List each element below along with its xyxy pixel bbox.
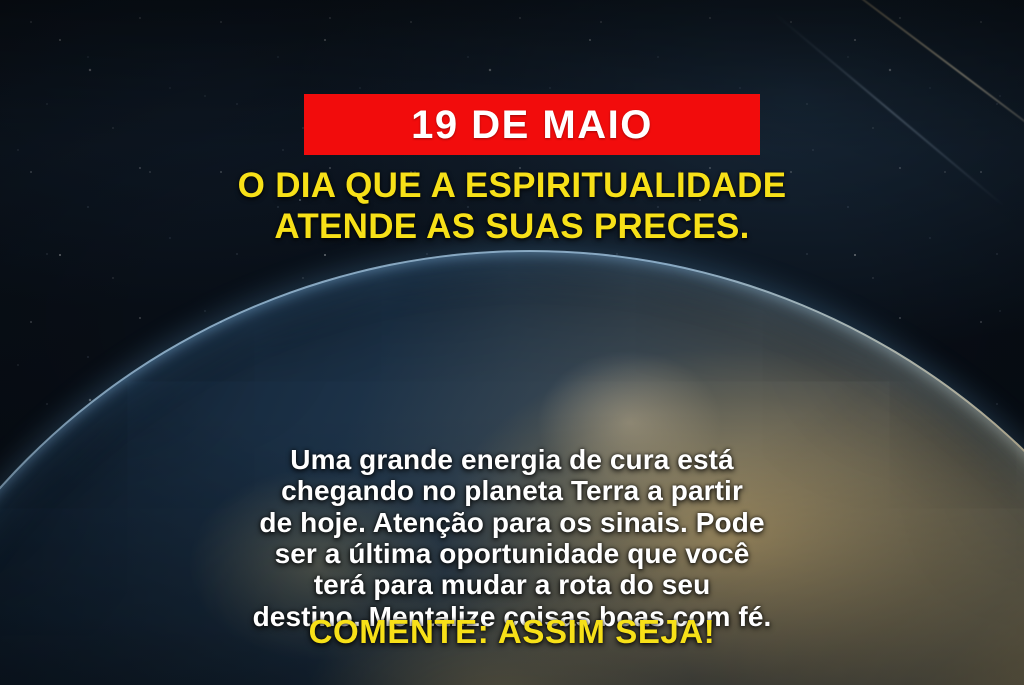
headline: O DIA QUE A ESPIRITUALIDADE ATENDE AS SU… — [0, 166, 1024, 247]
body-line-1: Uma grande energia de cura está — [54, 444, 970, 475]
body-line-2: chegando no planeta Terra a partir — [54, 475, 970, 506]
body-line-4: ser a última oportunidade que você — [54, 538, 970, 569]
body-line-3: de hoje. Atenção para os sinais. Pode — [54, 507, 970, 538]
headline-line-1: O DIA QUE A ESPIRITUALIDADE — [46, 166, 978, 207]
body-paragraph: Uma grande energia de cura está chegando… — [0, 444, 1024, 632]
poster-canvas: 19 DE MAIO O DIA QUE A ESPIRITUALIDADE A… — [0, 0, 1024, 685]
body-line-5: terá para mudar a rota do seu — [54, 569, 970, 600]
date-banner-label: 19 DE MAIO — [411, 105, 653, 145]
call-to-action-text: COMENTE: ASSIM SEJA! — [0, 614, 1024, 650]
poster-content: 19 DE MAIO O DIA QUE A ESPIRITUALIDADE A… — [0, 0, 1024, 685]
headline-line-2: ATENDE AS SUAS PRECES. — [46, 207, 978, 248]
date-banner: 19 DE MAIO — [304, 94, 760, 155]
